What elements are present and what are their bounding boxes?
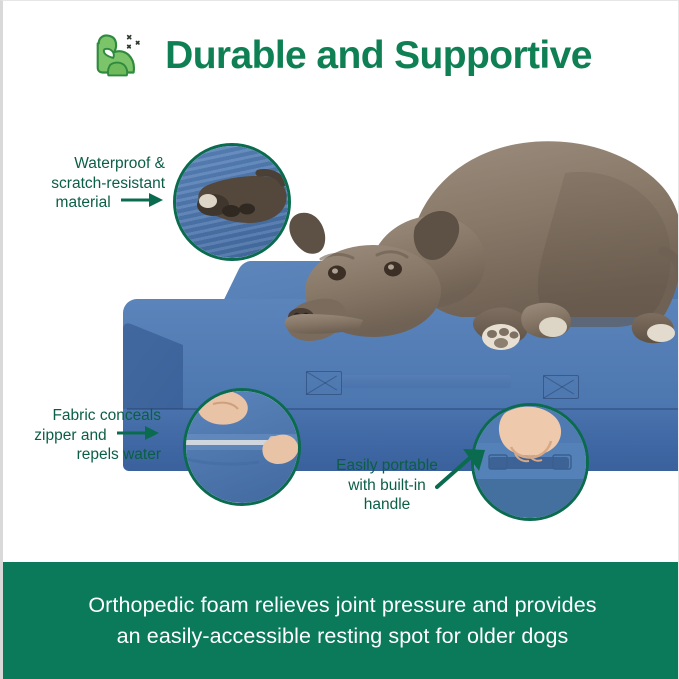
handle-stitch-right [543, 375, 579, 399]
arrow-right-icon [121, 193, 165, 213]
header: Durable and Supportive [3, 1, 678, 111]
zipper-callout-image [183, 388, 301, 506]
footer-banner-line-1: Orthopedic foam relieves joint pressure … [88, 590, 596, 621]
handle-stitch-left [306, 371, 342, 395]
annotation-handle: Easily portable with built-in handle [321, 456, 453, 515]
paw-on-fabric-callout [173, 143, 291, 261]
annotation-zipper-line-1: Fabric conceals [9, 406, 161, 426]
dog-photo [265, 131, 679, 361]
footer-banner: Orthopedic foam relieves joint pressure … [3, 562, 679, 679]
annotation-handle-line-1: Easily portable [321, 456, 453, 476]
zipper-callout [183, 388, 301, 506]
infographic-page: Durable and Supportive [0, 0, 679, 679]
arrow-up-right-icon [435, 443, 491, 494]
arrow-right-icon [117, 426, 161, 446]
annotation-handle-line-2: with built-in [321, 476, 453, 496]
annotation-waterproof-line-1: Waterproof & [15, 154, 165, 174]
annotation-zipper: Fabric conceals zipper and repels water [9, 406, 161, 465]
annotation-handle-line-3: handle [321, 495, 453, 515]
annotation-waterproof-line-2: scratch-resistant [15, 174, 165, 194]
annotation-zipper-line-3: repels water [9, 445, 161, 465]
page-title: Durable and Supportive [165, 34, 592, 78]
annotation-waterproof-line-3: material [15, 193, 165, 213]
flexed-bicep-icon [89, 26, 151, 88]
annotation-waterproof: Waterproof & scratch-resistant material [15, 154, 165, 213]
annotation-zipper-line-2: zipper and [9, 426, 161, 446]
paw-callout-image [173, 143, 291, 261]
footer-banner-line-2: an easily-accessible resting spot for ol… [117, 621, 569, 652]
bed-handle-strap [341, 375, 511, 388]
